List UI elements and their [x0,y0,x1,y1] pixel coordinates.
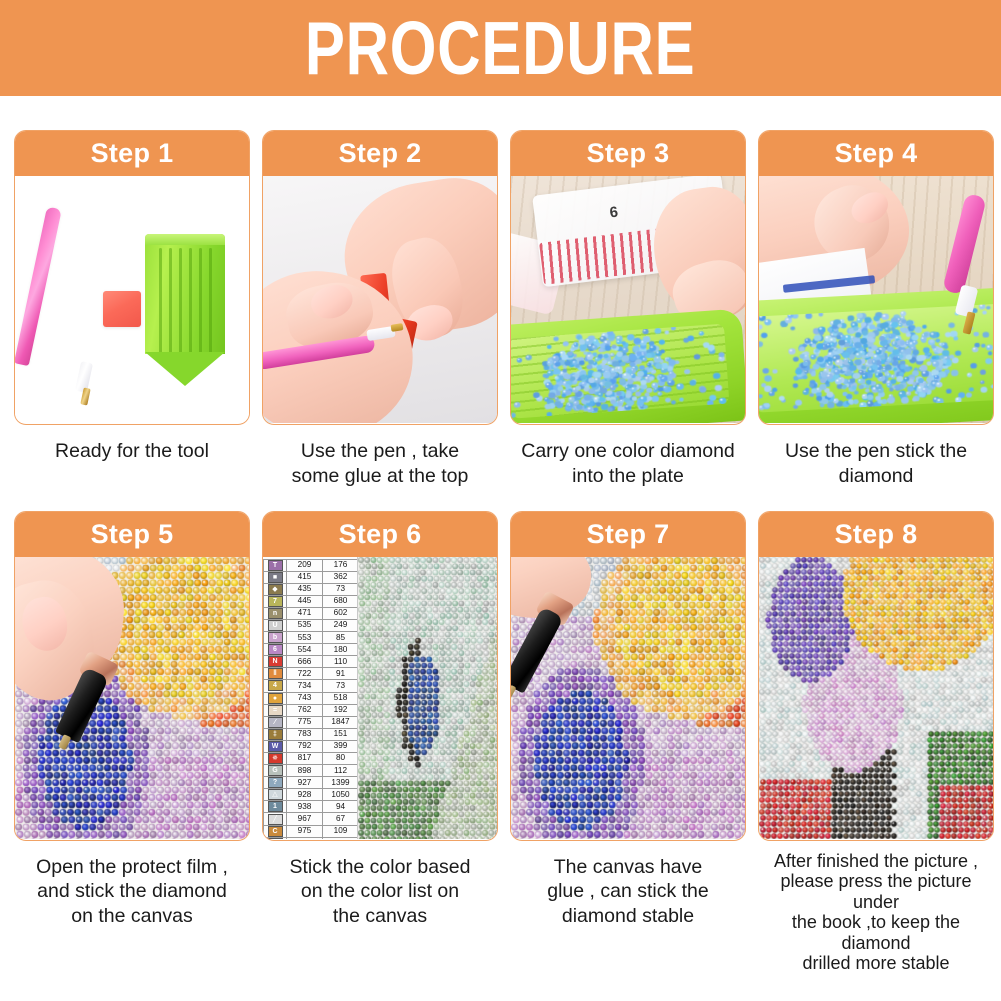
tray-inner [511,324,729,419]
color-symbol-cell: ⁄ [264,716,287,728]
step-5-card: Step 5 [14,511,250,841]
diamond-count-cell: 73 [323,680,359,692]
dmc-code-cell: 209 [287,559,323,571]
color-swatch: N [268,656,283,667]
color-swatch: n [268,608,283,619]
diamond-count-cell: 151 [323,728,359,740]
step-2-caption: Use the pen , take some glue at the top [262,439,498,489]
color-symbol-cell: ‖ [264,668,287,680]
color-list-row: ‖72291 [264,668,359,680]
steps-grid: Step 1 [0,96,1001,974]
page-title: PROCEDURE [305,11,696,86]
step-8-caption: After finished the picture , please pres… [758,851,994,974]
color-list-row: b55385 [264,632,359,644]
step-4-photo [759,176,993,423]
step-5-label: Step 5 [91,521,174,548]
step-7-photo [511,557,745,839]
tray-ridge [189,248,192,360]
steps-row-top: Step 1 [0,130,1001,489]
dmc-code-cell: 471 [287,607,323,619]
dmc-code-cell: 792 [287,740,323,752]
dmc-code-cell: 743 [287,692,323,704]
dmc-code-cell: 734 [287,680,323,692]
step-2-photo [263,176,497,423]
blue-diamonds-scatter [511,324,729,419]
tray-ridge [209,248,212,360]
step-3-caption: Carry one color diamond into the plate [510,439,746,489]
color-symbol-cell: Y [264,837,287,838]
dmc-code-cell: 666 [287,656,323,668]
step-3-photo: 6 [511,176,745,423]
step-5-caption: Open the protect film , and stick the di… [14,855,250,929]
color-symbol-cell: ‡ [264,728,287,740]
dmc-code-cell: 3013 [287,837,323,838]
diamond-count-cell: 1847 [323,716,359,728]
color-swatch: C [268,826,283,837]
step-2-card: Step 2 [262,130,498,425]
color-list-row: T209176 [264,559,359,571]
color-swatch: ‖ [268,668,283,679]
color-symbol-cell: ? [264,777,287,789]
color-swatch: U [268,620,283,631]
color-swatch: G [268,765,283,776]
color-symbol-cell: b [264,632,287,644]
diamond-count-cell: 1050 [323,789,359,801]
finished-diamond-painting [759,557,993,839]
color-symbol-cell: W [264,740,287,752]
color-symbol-cell: ╱ [264,813,287,825]
diamond-tray [145,234,225,382]
color-symbol-cell: ● [264,692,287,704]
step-2-header: Step 2 [263,131,498,177]
dmc-code-cell: 817 [287,753,323,765]
blue-diamonds-scatter [759,303,993,412]
color-list-row: G898112 [264,765,359,777]
color-list-row: 6554180 [264,644,359,656]
color-swatch: ⁄ [268,717,283,728]
color-swatch: ? [268,777,283,788]
color-symbol-cell: ✵ [264,753,287,765]
step-8-header: Step 8 [759,511,994,557]
step-4-label: Step 4 [835,140,918,167]
color-list-row: W792399 [264,740,359,752]
dmc-code-cell: 762 [287,704,323,716]
diamond-count-cell: 91 [323,668,359,680]
steps-row-bottom: Step 5 Open the protect film , [0,511,1001,974]
step-1-header: Step 1 [15,131,250,177]
diamond-count-cell: 249 [323,619,359,631]
step-8-card: Step 8 [758,511,994,841]
step-2-label: Step 2 [339,140,422,167]
color-list-row: ✵81780 [264,753,359,765]
step-4-caption: Use the pen stick the diamond [758,439,994,489]
color-symbol-cell: G [264,765,287,777]
step-7-card: Step 7 [510,511,746,841]
color-list-row: N666110 [264,656,359,668]
color-symbol-cell: N [264,656,287,668]
color-list-row: ‡783151 [264,728,359,740]
color-swatch: ■ [268,572,283,583]
step-1-photo [15,176,249,423]
color-list-row: ⁄7751847 [264,716,359,728]
step-card-7: Step 7 The canvas have glue , can stick … [510,511,746,974]
color-swatch: 1 [268,801,283,812]
glue-clay-square [103,291,141,327]
tray-inner [759,303,993,412]
diamond-count-cell: 67 [323,813,359,825]
diamond-count-cell: 85 [323,632,359,644]
dmc-code-cell: 928 [287,789,323,801]
color-swatch: W [268,741,283,752]
color-list-row: ●743518 [264,692,359,704]
color-symbol-cell: = [264,704,287,716]
color-symbol-cell: △ [264,789,287,801]
diamond-count-cell: 94 [323,801,359,813]
diamond-count-cell: 192 [323,704,359,716]
color-swatch: ╱ [268,814,283,825]
step-7-label: Step 7 [587,521,670,548]
dmc-code-cell: 967 [287,813,323,825]
color-list-row: =762192 [264,704,359,716]
dmc-code-cell: 775 [287,716,323,728]
dmc-code-cell: 722 [287,668,323,680]
step-card-1: Step 1 [14,130,250,489]
color-swatch: = [268,705,283,716]
color-list-row: C975109 [264,825,359,837]
color-swatch: ◆ [268,584,283,595]
diamond-count-cell: 176 [323,559,359,571]
color-swatch: 6 [268,644,283,655]
diamond-count-cell: 80 [323,753,359,765]
dmc-code-cell: 898 [287,765,323,777]
tray-rim [145,234,225,245]
step-4-header: Step 4 [759,131,994,177]
step-1-label: Step 1 [91,140,174,167]
diamond-count-cell: 73 [323,583,359,595]
color-list-row: U535249 [264,619,359,631]
color-list-row: 473473 [264,680,359,692]
diamond-count-cell: 399 [323,740,359,752]
dmc-code-cell: 938 [287,801,323,813]
step-6-caption: Stick the color based on the color list … [262,855,498,929]
color-list-row: ?9271399 [264,777,359,789]
color-symbol-cell: 1 [264,801,287,813]
dmc-code-cell: 783 [287,728,323,740]
tray-ridge [179,248,182,360]
step-card-2: Step 2 Use the pen , take some glue at [262,130,498,489]
color-symbol-cell: U [264,619,287,631]
step-1-card: Step 1 [14,130,250,425]
step-6-photo: T209176■415362◆435737445680n471602U53524… [263,557,497,839]
color-symbol-cell: 6 [264,644,287,656]
step-5-photo [15,557,249,839]
color-list-row: Y3013526 [264,837,359,838]
color-swatch: b [268,632,283,643]
dmc-code-cell: 415 [287,571,323,583]
step-7-caption: The canvas have glue , can stick the dia… [510,855,746,929]
step-card-3: Step 3 6 [510,130,746,489]
color-list-row: ╱96767 [264,813,359,825]
step-3-header: Step 3 [511,131,746,177]
step-card-4: Step 4 [758,130,994,489]
color-swatch: ● [268,693,283,704]
color-symbol-cell: C [264,825,287,837]
step-3-card: Step 3 6 [510,130,746,425]
color-list-row: 193894 [264,801,359,813]
diamond-count-cell: 180 [323,644,359,656]
tray-ridge [169,248,172,360]
diamond-count-cell: 112 [323,765,359,777]
color-list-body: T209176■415362◆435737445680n471602U53524… [264,559,359,839]
step-6-label: Step 6 [339,521,422,548]
dmc-code-cell: 535 [287,619,323,631]
color-symbol-cell: T [264,559,287,571]
color-swatch: Y [268,838,283,839]
color-symbol-cell: 4 [264,680,287,692]
step-card-6: Step 6 T209176■415362◆435737445680n47160… [262,511,498,974]
color-symbol-cell: ■ [264,571,287,583]
dmc-code-cell: 927 [287,777,323,789]
step-card-8: Step 8 After finished the picture , plea… [758,511,994,974]
color-swatch: △ [268,789,283,800]
color-swatch: T [268,560,283,571]
step-8-photo [759,557,993,839]
diamond-count-cell: 680 [323,595,359,607]
color-swatch: 7 [268,596,283,607]
dmc-code-cell: 435 [287,583,323,595]
diamond-count-cell: 110 [323,656,359,668]
step-3-label: Step 3 [587,140,670,167]
diamond-count-cell: 1399 [323,777,359,789]
color-symbol-cell: n [264,607,287,619]
color-list-row: △9281050 [264,789,359,801]
green-tray [511,308,745,423]
color-list-chart: T209176■415362◆435737445680n471602U53524… [263,557,358,839]
tray-body [145,234,225,354]
color-list-row: n471602 [264,607,359,619]
dmc-code-cell: 554 [287,644,323,656]
tray-ridge [199,248,202,360]
color-swatch: ‡ [268,729,283,740]
step-8-label: Step 8 [835,521,918,548]
dmc-code-cell: 975 [287,825,323,837]
diamond-pen-icon [15,206,62,366]
diamond-count-cell: 362 [323,571,359,583]
step-6-header: Step 6 [263,511,498,557]
diamond-count-cell: 526 [323,837,359,838]
step-5-header: Step 5 [15,511,250,557]
diamond-count-cell: 518 [323,692,359,704]
tray-ridge [159,248,162,360]
color-list-row: ■415362 [264,571,359,583]
color-list-row: 7445680 [264,595,359,607]
tray-spout [145,352,225,386]
color-list-table: T209176■415362◆435737445680n471602U53524… [263,559,358,839]
color-symbol-cell: ◆ [264,583,287,595]
mosaic-canvas [358,557,497,839]
color-swatch: 4 [268,680,283,691]
dmc-code-cell: 445 [287,595,323,607]
color-symbol-cell: 7 [264,595,287,607]
step-7-header: Step 7 [511,511,746,557]
dmc-code-cell: 553 [287,632,323,644]
color-swatch: ✵ [268,753,283,764]
diamond-mosaic [358,557,497,839]
step-card-5: Step 5 Open the protect film , [14,511,250,974]
step-6-card: Step 6 T209176■415362◆435737445680n47160… [262,511,498,841]
color-list-row: ◆43573 [264,583,359,595]
step-1-caption: Ready for the tool [14,439,250,464]
diamond-count-cell: 109 [323,825,359,837]
step-4-card: Step 4 [758,130,994,425]
page-header: PROCEDURE [0,0,1001,96]
diamond-count-cell: 602 [323,607,359,619]
